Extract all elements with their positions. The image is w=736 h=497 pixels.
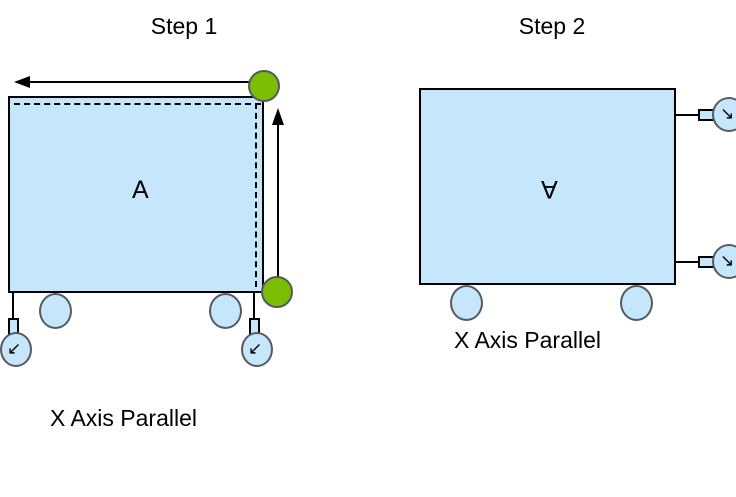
step1-dashed-top-guide — [14, 103, 261, 105]
horizontal-translate-arrow — [14, 72, 264, 92]
step1-top-right-pivot — [248, 70, 280, 102]
step2-axis-label: X Axis Parallel — [454, 327, 601, 354]
caster-arm — [675, 114, 700, 116]
step1-dashed-right-guide — [255, 103, 257, 287]
step1-body-letter: A — [132, 178, 149, 203]
step2-title: Step 2 — [368, 13, 736, 40]
vertical-translate-arrow — [268, 108, 288, 294]
caster-arm — [675, 261, 700, 263]
caster-direction-icon: ↙ — [248, 340, 262, 357]
step1-title: Step 1 — [0, 13, 368, 40]
step2-panel: Step 2 A ↘ ↘ X Axis Parallel — [368, 0, 736, 497]
diagram-canvas: Step 1 A ↙ — [0, 0, 736, 497]
caster-direction-icon: ↘ — [720, 105, 734, 122]
step2-left-wheel — [450, 285, 483, 321]
caster-arm — [12, 292, 14, 320]
caster-arm — [253, 292, 255, 320]
step1-panel: Step 1 A ↙ — [0, 0, 368, 497]
caster-direction-icon: ↙ — [7, 340, 21, 357]
step1-body-rect: A — [8, 96, 264, 293]
step2-body-rect: A — [419, 88, 676, 285]
caster-direction-icon: ↘ — [720, 252, 734, 269]
step1-left-wheel — [39, 293, 72, 329]
step2-body-letter: A — [541, 176, 558, 201]
step2-right-wheel — [620, 285, 653, 321]
step1-bottom-right-pivot — [261, 276, 293, 308]
step1-axis-label: X Axis Parallel — [50, 405, 197, 432]
step1-right-wheel — [209, 293, 242, 329]
